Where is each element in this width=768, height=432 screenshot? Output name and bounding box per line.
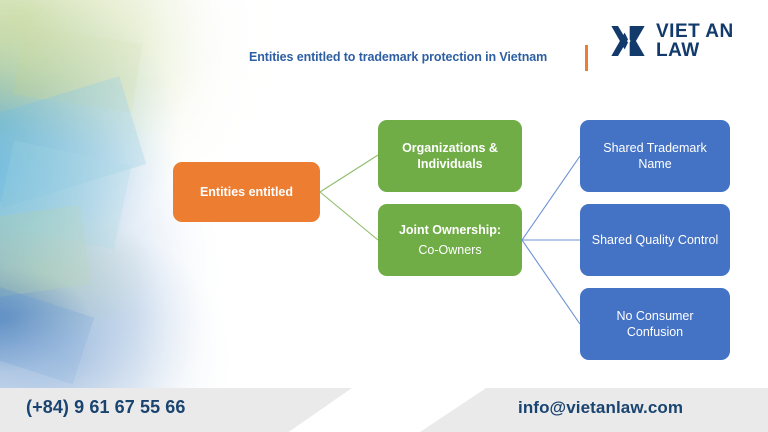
- node-leaf-shared-trademark-name[interactable]: Shared Trademark Name: [580, 120, 730, 192]
- footer-email[interactable]: info@vietanlaw.com: [518, 398, 683, 418]
- node-branch-joint-ownership[interactable]: Joint Ownership: Co-Owners: [378, 204, 522, 276]
- node-leaf-1-label: Shared Trademark Name: [588, 140, 722, 173]
- footer-phone[interactable]: (+84) 9 61 67 55 66: [26, 397, 186, 418]
- page-title: Entities entitled to trademark protectio…: [249, 50, 547, 64]
- node-branch-2-line-1: Joint Ownership:: [399, 222, 501, 239]
- node-root-label: Entities entitled: [200, 184, 293, 201]
- node-leaf-2-label: Shared Quality Control: [592, 232, 718, 249]
- node-branch-organizations-individuals[interactable]: Organizations & Individuals: [378, 120, 522, 192]
- viet-an-law-logo: VIET AN LAW: [608, 18, 736, 64]
- node-branch-1-line-1: Organizations &: [402, 140, 498, 157]
- node-leaf-shared-quality-control[interactable]: Shared Quality Control: [580, 204, 730, 276]
- node-leaf-3-label: No Consumer Confusion: [588, 308, 722, 341]
- logo-line-2: LAW: [656, 41, 734, 60]
- title-accent-bar: [585, 45, 588, 71]
- node-leaf-no-consumer-confusion[interactable]: No Consumer Confusion: [580, 288, 730, 360]
- node-root-entities-entitled[interactable]: Entities entitled: [173, 162, 320, 222]
- node-branch-1-line-2: Individuals: [402, 156, 498, 173]
- logo-mark-icon: [608, 21, 648, 61]
- logo-line-1: VIET AN: [656, 22, 734, 41]
- slide: Entities entitled to trademark protectio…: [0, 0, 768, 432]
- node-branch-2-line-2: Co-Owners: [399, 242, 501, 259]
